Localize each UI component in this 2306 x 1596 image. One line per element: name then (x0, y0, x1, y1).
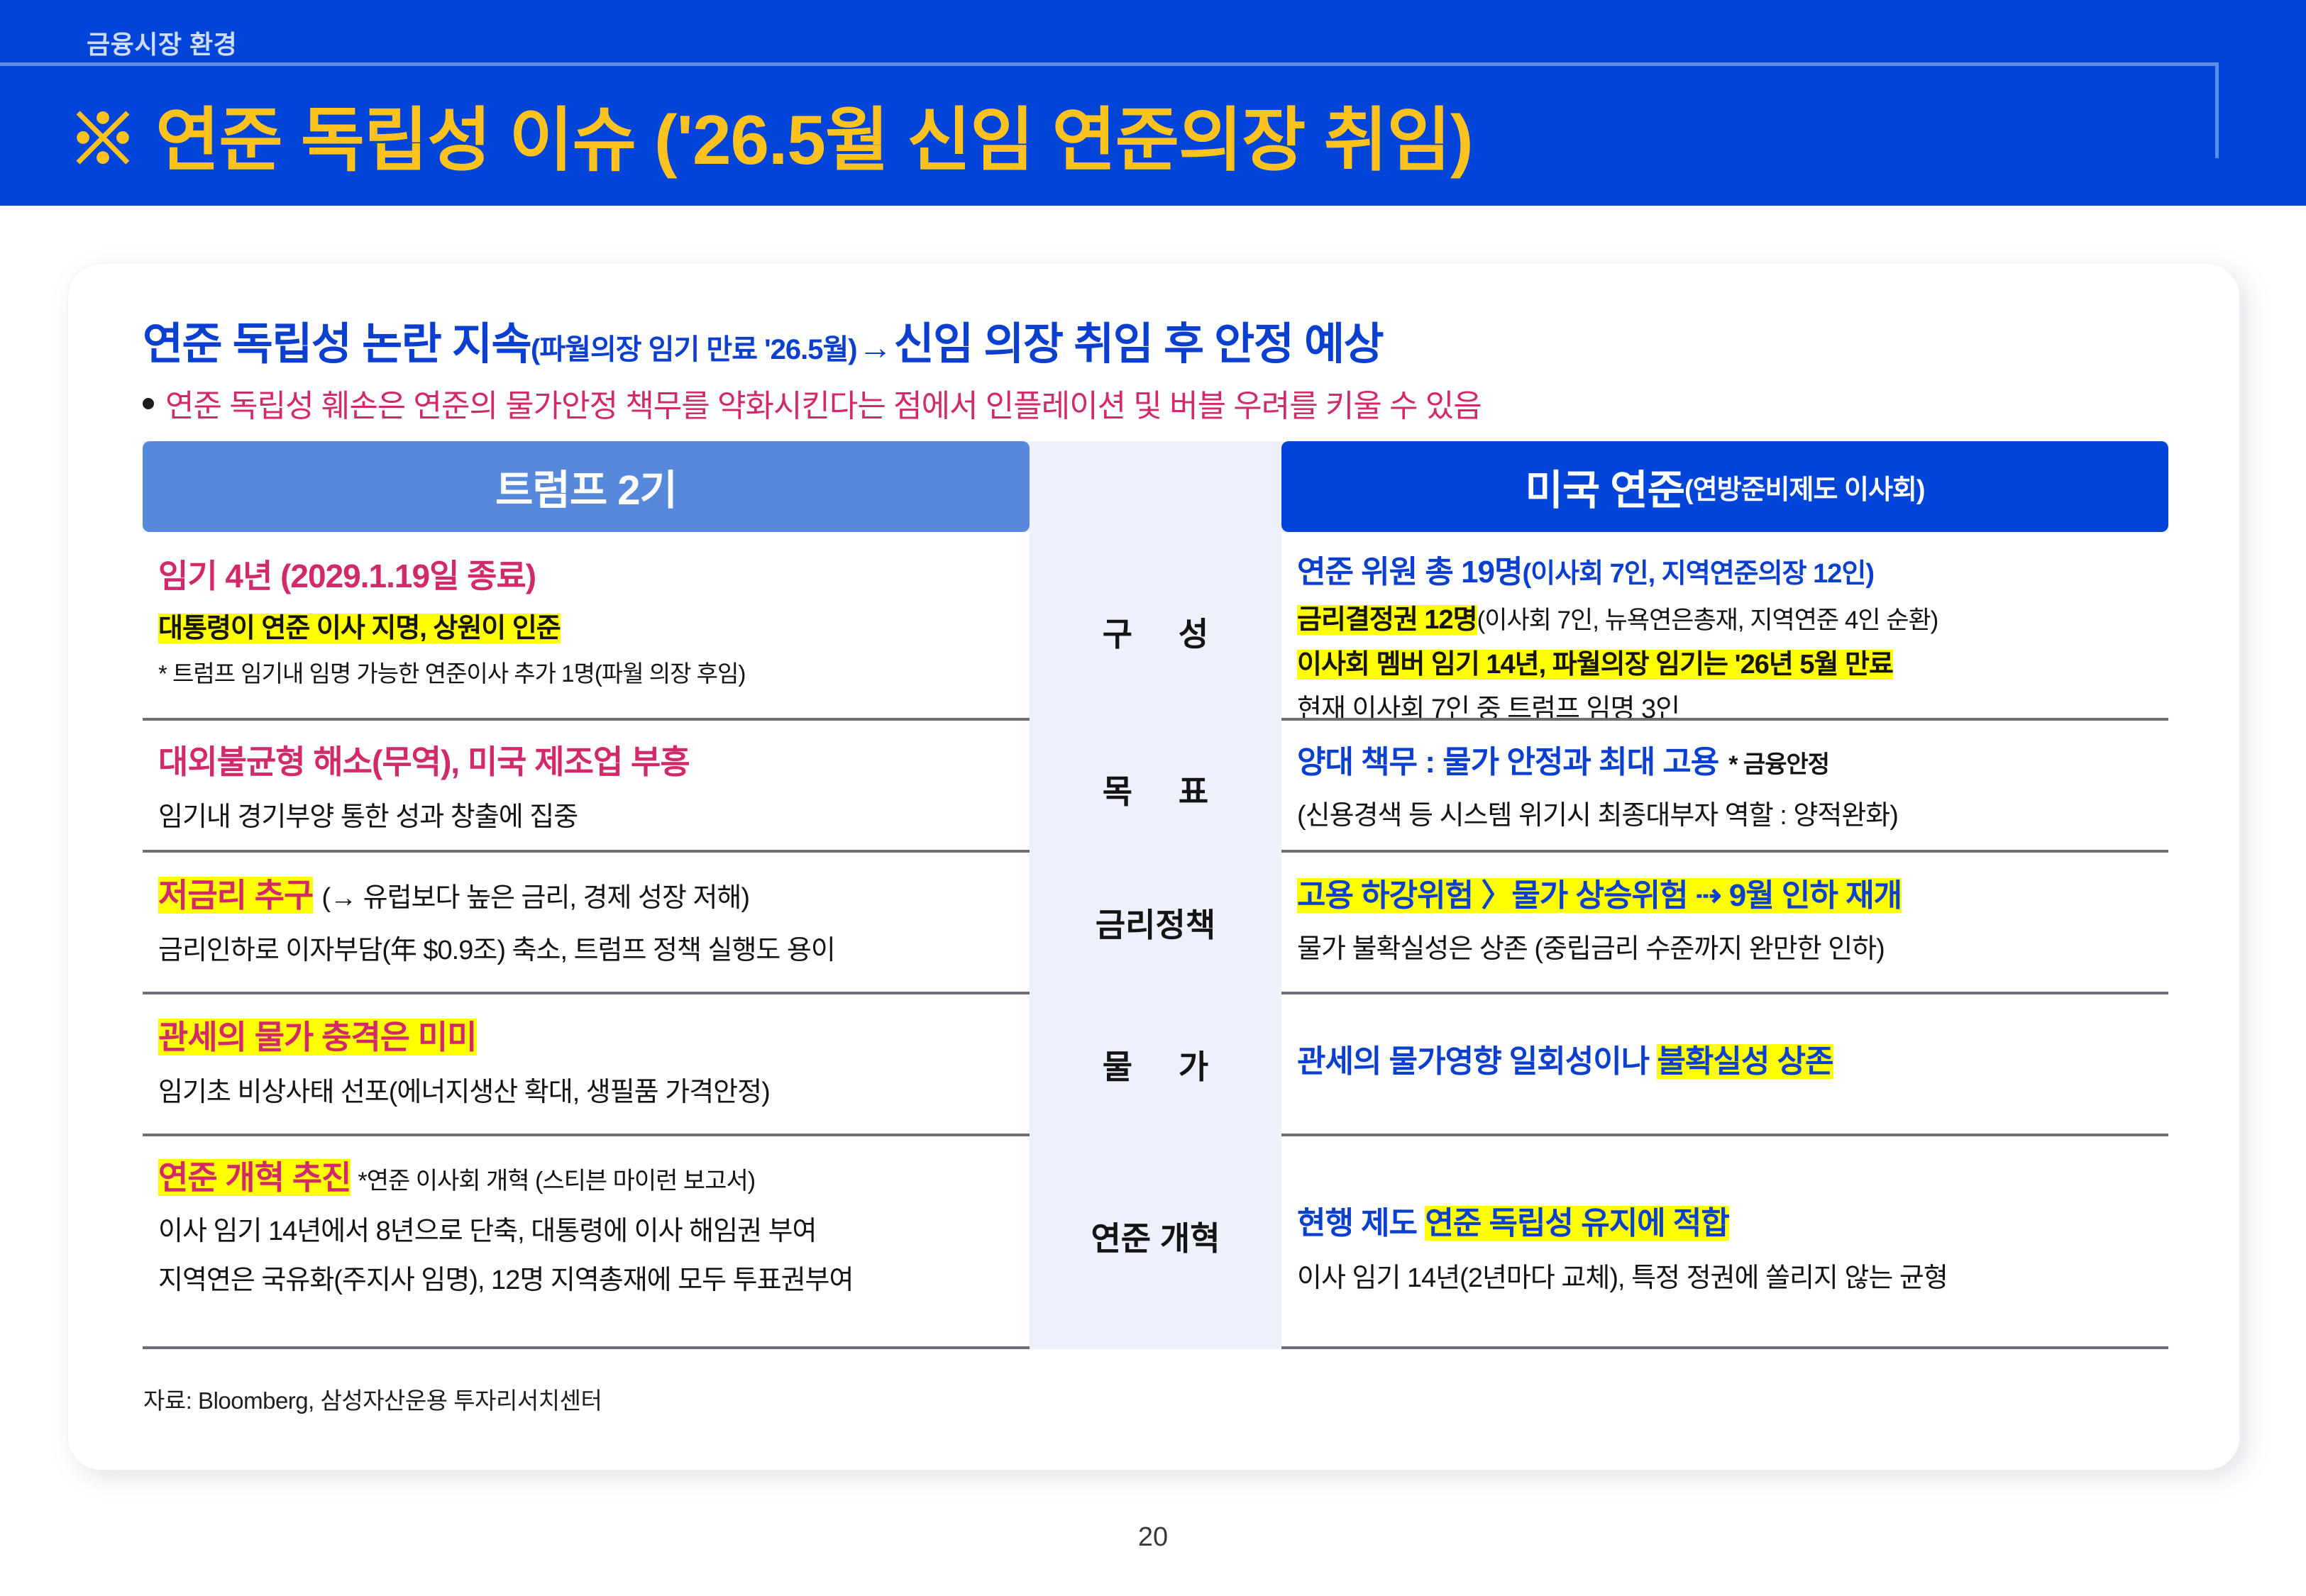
cell-note: 이사 임기 14년(2년마다 교체), 특정 정권에 쏠리지 않는 균형 (1297, 1256, 2153, 1295)
row-label-rate-policy: 금리정책 (1030, 899, 1281, 946)
source-note: 자료: Bloomberg, 삼성자산운용 투자리서치센터 (143, 1382, 602, 1416)
cell-head-sub: (이사회 7인, 지역연준의장 12인) (1523, 559, 1875, 589)
cell-note: 임기초 비상사태 선포(에너지생산 확대, 생필품 가격안정) (158, 1070, 1014, 1109)
cell-head: 임기 4년 (2029.1.19일 종료) (158, 550, 1014, 597)
row-label-composition: 구 성 (1030, 609, 1281, 655)
right-cells-panel: 연준 위원 총 19명(이사회 7인, 지역연준의장 12인) 금리결정권 12… (1281, 532, 2168, 1349)
heading-tail: 신임 의장 취임 후 안정 예상 (894, 320, 1384, 369)
table-row: 임기 4년 (2029.1.19일 종료) 대통령이 연준 이사 지명, 상원이… (143, 532, 1030, 718)
row-label-goal: 목 표 (1030, 766, 1281, 813)
column-header-trump: 트럼프 2기 (143, 441, 1030, 532)
row-label-prices: 물 가 (1030, 1041, 1281, 1088)
cell-highlight: 대통령이 연준 이사 지명, 상원이 인준 (158, 614, 561, 643)
cell-highlight: 이사회 멤버 임기 14년, 파월의장 임기는 '26년 5월 만료 (1297, 650, 1893, 680)
column-header-fed: 미국 연준(연방준비제도 이사회) (1281, 441, 2168, 532)
cell-head-tail: *연준 이사회 개혁 (스티븐 마이런 보고서) (351, 1168, 755, 1195)
page-number: 20 (0, 1522, 2306, 1553)
cell-highlight: 관세의 물가 충격은 미미 (158, 1019, 477, 1055)
heading-main: 연준 독립성 논란 지속 (143, 320, 531, 369)
cell-highlight: 불확실성 상존 (1657, 1044, 1833, 1079)
bullet-text: 연준 독립성 훼손은 연준의 물가안정 책무를 약화시킨다는 점에서 인플레이션… (165, 380, 1482, 426)
cell-head: 대외불균형 해소(무역), 미국 제조업 부흥 (158, 736, 1014, 783)
cell-highlight-sub: (이사회 7인, 뉴욕연은총재, 지역연준 4인 순환) (1477, 606, 1938, 634)
left-cells-panel: 임기 4년 (2029.1.19일 종료) 대통령이 연준 이사 지명, 상원이… (143, 532, 1030, 1349)
cell-highlight: 고용 하강위험 〉물가 상승위험 ⇢ 9월 인하 재개 (1297, 878, 1902, 913)
heading-arrow-icon: → (857, 329, 894, 367)
table-row: 대외불균형 해소(무역), 미국 제조업 부흥 임기내 경기부양 통한 성과 창… (143, 718, 1030, 850)
row-label-fed-reform: 연준 개혁 (1030, 1213, 1281, 1260)
table-row: 양대 책무 : 물가 안정과 최대 고용* 금융안정 (신용경색 등 시스템 위… (1281, 718, 2168, 850)
cell-note: 물가 불확실성은 상존 (중립금리 수준까지 완만한 인하) (1297, 926, 2153, 965)
table-row: 관세의 물가 충격은 미미 임기초 비상사태 선포(에너지생산 확대, 생필품 … (143, 992, 1030, 1134)
table-row: 현행 제도 연준 독립성 유지에 적합 이사 임기 14년(2년마다 교체), … (1281, 1134, 2168, 1349)
table-row: 고용 하강위험 〉물가 상승위험 ⇢ 9월 인하 재개 물가 불확실성은 상존 … (1281, 850, 2168, 992)
column-header-fed-sublabel: (연방준비제도 이사회) (1684, 467, 1925, 506)
cell-head: 연준 위원 총 19명 (1297, 555, 1523, 589)
cell-head-tail: (→ 유럽보다 높은 금리, 경제 성장 저해) (313, 883, 749, 913)
table-column-left: 트럼프 2기 임기 4년 (2029.1.19일 종료) 대통령이 연준 이사 … (143, 441, 1030, 532)
table-column-right: 미국 연준(연방준비제도 이사회) 연준 위원 총 19명(이사회 7인, 지역… (1281, 441, 2168, 532)
table-row: 저금리 추구(→ 유럽보다 높은 금리, 경제 성장 저해) 금리인하로 이자부… (143, 850, 1030, 992)
slide-header-banner: 금융시장 환경 ※ 연준 독립성 이슈 ('26.5월 신임 연준의장 취임) (0, 0, 2306, 206)
cell-head: 관세의 물가영향 일회성이나 (1297, 1044, 1657, 1079)
heading-paren: (파월의장 임기 만료 '26.5월) (531, 334, 857, 365)
bullet-row: 연준 독립성 훼손은 연준의 물가안정 책무를 약화시킨다는 점에서 인플레이션… (143, 380, 1482, 426)
page-title: ※ 연준 독립성 이슈 ('26.5월 신임 연준의장 취임) (68, 84, 1472, 184)
cell-note: 이사 임기 14년에서 8년으로 단축, 대통령에 이사 해임권 부여 (158, 1209, 1014, 1248)
bullet-dot-icon (143, 398, 154, 409)
cell-highlight: 금리결정권 12명 (1297, 605, 1477, 635)
cell-note: (신용경색 등 시스템 위기시 최종대부자 역할 : 양적완화) (1297, 793, 2153, 832)
header-rule-horizontal (0, 62, 2219, 66)
content-heading: 연준 독립성 논란 지속(파월의장 임기 만료 '26.5월)→신임 의장 취임… (143, 308, 1383, 372)
cell-highlight: 저금리 추구 (158, 877, 313, 914)
comparison-table: 트럼프 2기 임기 4년 (2029.1.19일 종료) 대통령이 연준 이사 … (143, 441, 2168, 1349)
mid-labels-panel: 구 성 목 표 금리정책 물 가 연준 개혁 (1030, 532, 1281, 1349)
section-kicker: 금융시장 환경 (87, 24, 237, 61)
cell-note: 임기내 경기부양 통한 성과 창출에 집중 (158, 794, 1014, 833)
cell-head: 양대 책무 : 물가 안정과 최대 고용 (1297, 745, 1719, 780)
header-rule-vertical (2215, 62, 2219, 158)
column-header-fed-label: 미국 연준 (1525, 457, 1684, 516)
cell-head: 현행 제도 (1297, 1206, 1425, 1241)
cell-note: 금리인하로 이자부담(年 $0.9조) 축소, 트럼프 정책 실행도 용이 (158, 928, 1014, 967)
cell-highlight: 연준 독립성 유지에 적합 (1425, 1206, 1728, 1241)
content-card: 연준 독립성 논란 지속(파월의장 임기 만료 '26.5월)→신임 의장 취임… (68, 264, 2239, 1470)
cell-head-tail: * 금융안정 (1719, 751, 1829, 778)
table-row: 관세의 물가영향 일회성이나 불확실성 상존 (1281, 992, 2168, 1134)
cell-note: 지역연은 국유화(주지사 임명), 12명 지역총재에 모두 투표권부여 (158, 1258, 1014, 1297)
column-header-trump-label: 트럼프 2기 (495, 457, 677, 516)
cell-note: * 트럼프 임기내 임명 가능한 연준이사 추가 1명(파월 의장 후임) (158, 655, 1014, 689)
cell-highlight: 연준 개혁 추진 (158, 1159, 351, 1196)
table-row: 연준 위원 총 19명(이사회 7인, 지역연준의장 12인) 금리결정권 12… (1281, 532, 2168, 718)
table-row: 연준 개혁 추진*연준 이사회 개혁 (스티븐 마이런 보고서) 이사 임기 1… (143, 1134, 1030, 1349)
